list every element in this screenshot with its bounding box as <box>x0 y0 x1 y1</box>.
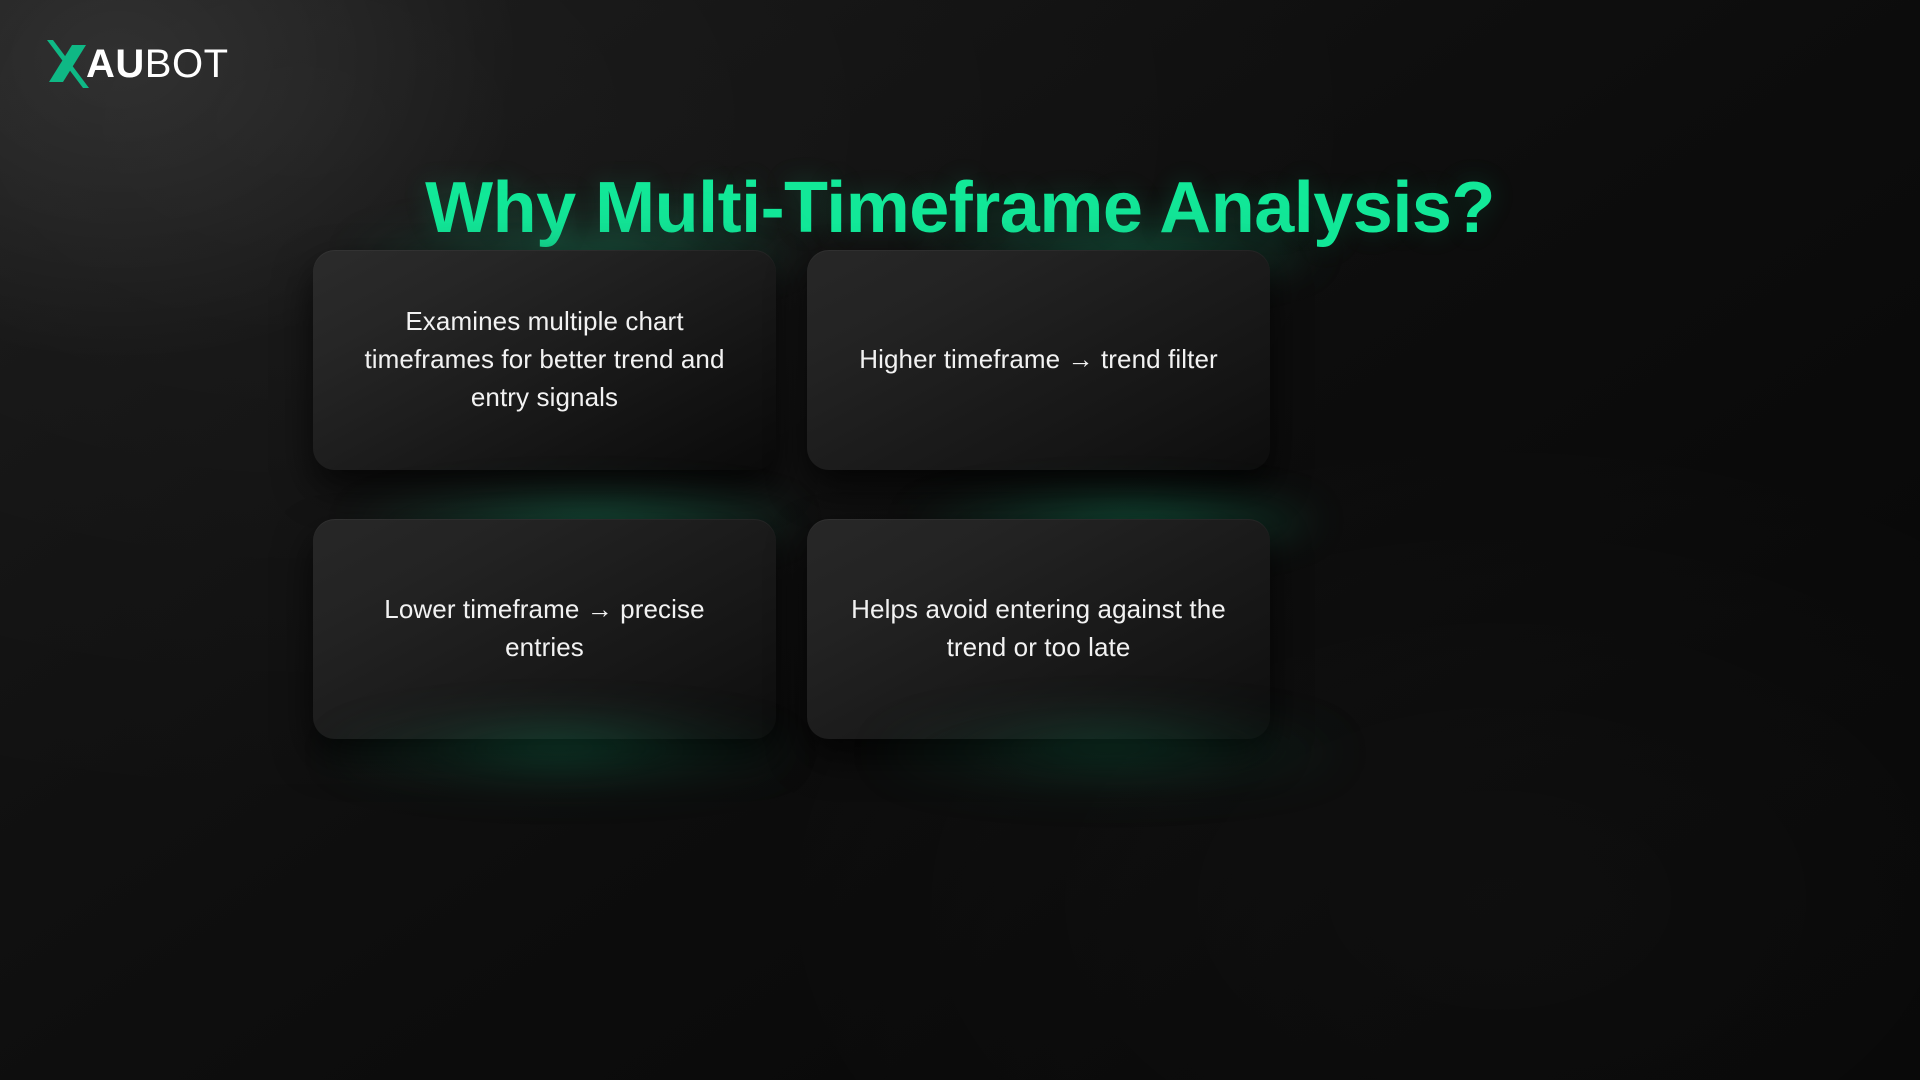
brand-wordmark-bot: BOT <box>145 42 229 86</box>
feature-card-3[interactable]: Lower timeframe → precise entries <box>313 519 776 739</box>
brand-wordmark: AUBOT <box>86 44 229 84</box>
feature-card-text: Helps avoid entering against the trend o… <box>807 591 1270 667</box>
brand-logo[interactable]: AUBOT <box>46 32 306 96</box>
brand-wordmark-au: AU <box>86 42 145 86</box>
card-wrapper: Higher timeframe → trend filter <box>807 250 1270 470</box>
slide-canvas: AUBOT Why Multi-Timeframe Analysis? Exam… <box>0 0 1920 1080</box>
feature-card-1[interactable]: Examines multiple chart timeframes for b… <box>313 250 776 470</box>
card-wrapper: Examines multiple chart timeframes for b… <box>313 250 776 470</box>
feature-card-text: Higher timeframe → trend filter <box>825 341 1252 379</box>
card-wrapper: Helps avoid entering against the trend o… <box>807 519 1270 739</box>
feature-card-2[interactable]: Higher timeframe → trend filter <box>807 250 1270 470</box>
feature-card-text: Lower timeframe → precise entries <box>313 591 776 667</box>
card-wrapper: Lower timeframe → precise entries <box>313 519 776 739</box>
feature-card-4[interactable]: Helps avoid entering against the trend o… <box>807 519 1270 739</box>
page-title: Why Multi-Timeframe Analysis? <box>0 168 1920 249</box>
feature-card-text: Examines multiple chart timeframes for b… <box>313 303 776 417</box>
feature-card-grid: Examines multiple chart timeframes for b… <box>313 250 1270 739</box>
